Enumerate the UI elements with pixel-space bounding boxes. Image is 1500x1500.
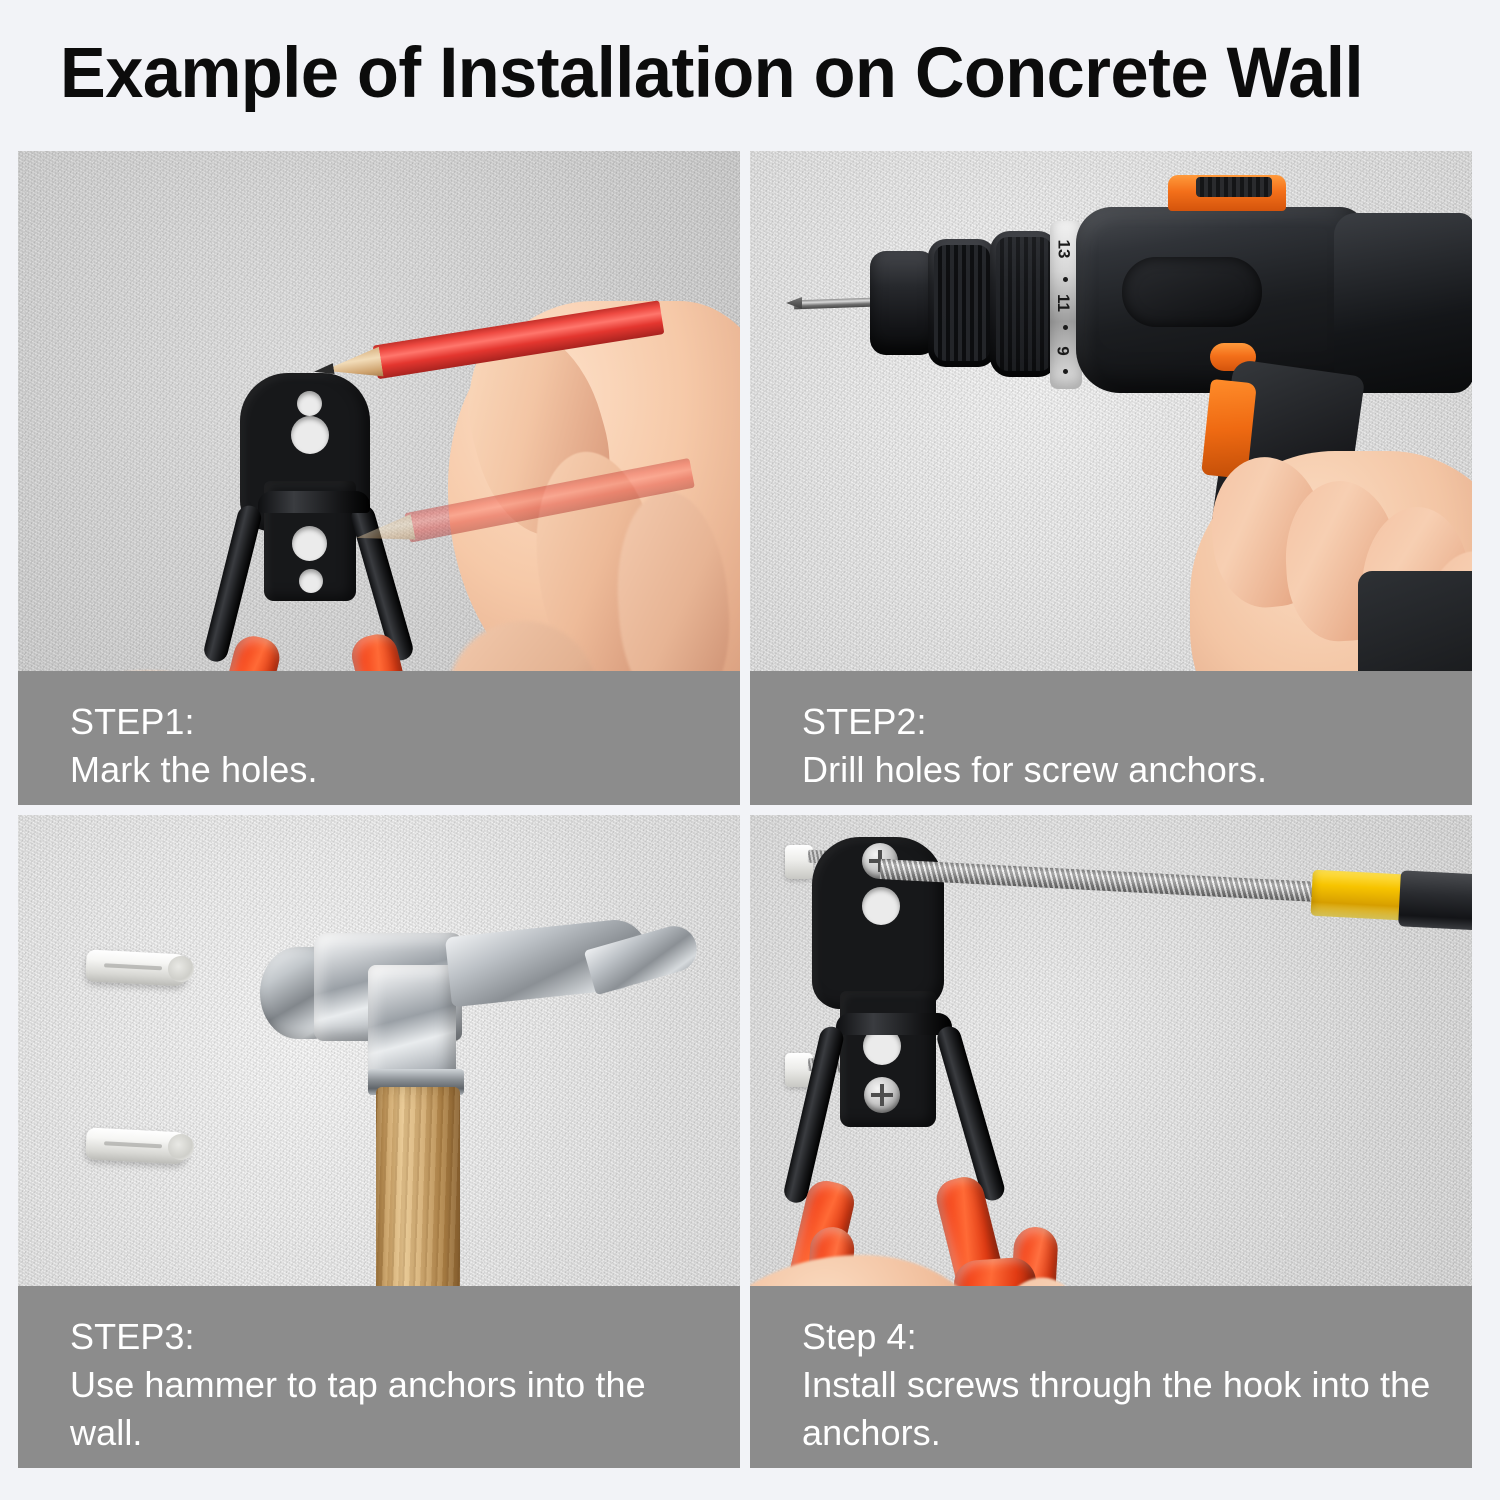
drill-bit xyxy=(794,298,874,310)
step-1-body-line-1: Mark the holes. xyxy=(70,746,740,794)
screw-cross-vertical xyxy=(880,1084,884,1106)
clutch-number-9: 9 xyxy=(1053,346,1073,355)
step-3-heading: STEP3: xyxy=(70,1313,740,1361)
step-4-body-line-2: anchors. xyxy=(802,1409,1472,1457)
screw-head-bottom xyxy=(864,1077,900,1113)
clutch-dot-2 xyxy=(1063,325,1068,330)
hook-arm-bridge xyxy=(258,491,370,513)
step-1-caption: STEP1: Mark the holes. xyxy=(18,671,740,805)
step-1-heading: STEP1: xyxy=(70,698,740,746)
hook-arm-right xyxy=(934,1024,1007,1204)
clutch-number-11: 11 xyxy=(1053,294,1073,312)
screwdriver-ferrule xyxy=(1311,870,1409,921)
screwdriver-shaft-knurl xyxy=(880,859,1320,902)
clutch-number-13: 13 xyxy=(1053,240,1073,259)
step-panel-2: 13 11 9 xyxy=(750,151,1472,805)
step-4-caption: Step 4: Install screws through the hook … xyxy=(750,1286,1472,1468)
drill-chuck-grip-ribs xyxy=(934,245,990,361)
step-panel-3: STEP3: Use hammer to tap anchors into th… xyxy=(18,815,740,1468)
step-3-body-line-2: wall. xyxy=(70,1409,740,1457)
mounting-hole-bottom xyxy=(299,569,323,593)
step-2-heading: STEP2: xyxy=(802,698,1472,746)
step-2-body-line-1: Drill holes for screw anchors. xyxy=(802,746,1472,794)
step-4-heading: Step 4: xyxy=(802,1313,1472,1361)
page-title: Example of Installation on Concrete Wall xyxy=(60,33,1411,115)
hook-arm-left xyxy=(782,1024,846,1205)
step-3-caption: STEP3: Use hammer to tap anchors into th… xyxy=(18,1286,740,1468)
mounting-hole-third xyxy=(292,526,327,561)
drill-chuck xyxy=(870,251,936,355)
drill-gear-ribs xyxy=(996,237,1052,371)
drill-body-inset-panel xyxy=(1122,257,1262,327)
pencil-ghost-wood xyxy=(354,514,416,551)
pencil-lead xyxy=(313,363,334,377)
step-panel-4: Step 4: Install screws through the hook … xyxy=(750,815,1472,1468)
screwdriver-handle xyxy=(1398,870,1472,932)
mounting-hole-second xyxy=(291,416,329,454)
drill-rear-housing xyxy=(1334,213,1472,393)
step-2-caption: STEP2: Drill holes for screw anchors. xyxy=(750,671,1472,805)
step-3-body-line-1: Use hammer to tap anchors into the xyxy=(70,1361,740,1409)
clutch-dot-1 xyxy=(1063,277,1068,282)
clutch-dot-3 xyxy=(1063,369,1068,374)
step-4-body-line-1: Install screws through the hook into the xyxy=(802,1361,1472,1409)
drill-top-vent xyxy=(1196,177,1272,197)
screwdriver-shaft xyxy=(880,859,1320,902)
hook-arm-bridge xyxy=(836,1013,952,1035)
step-panel-1: STEP1: Mark the holes. xyxy=(18,151,740,805)
installation-guide-page: Example of Installation on Concrete Wall xyxy=(0,0,1500,1500)
